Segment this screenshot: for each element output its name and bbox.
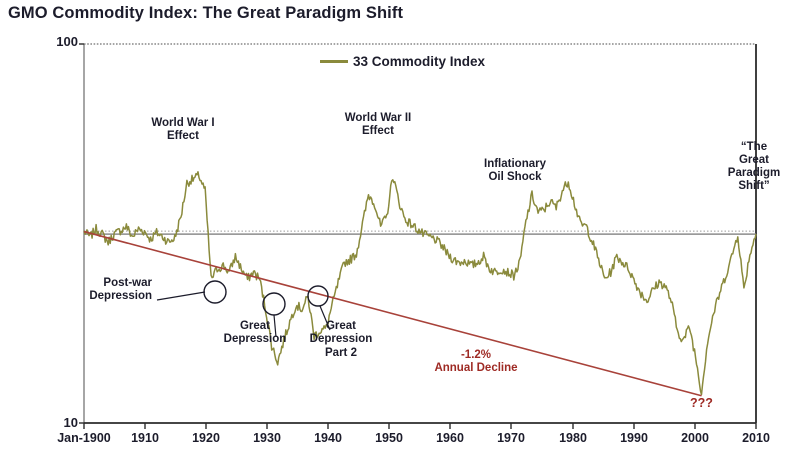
legend-swatch-icon [320,60,348,63]
x-axis-label-1980: 1980 [543,431,603,445]
chart-container: GMO Commodity Index: The Great Paradigm … [0,0,800,466]
commodity-index-series [84,172,756,395]
x-axis-label-1930: 1930 [237,431,297,445]
x-axis-label-2000: 2000 [665,431,725,445]
chart-canvas [0,0,800,466]
y-axis-label-10: 10 [40,415,78,430]
trend-line [84,232,702,396]
annotation-world-war-2: World War II Effect [333,112,423,139]
x-axis-label-1990: 1990 [604,431,664,445]
annotation-world-war-1: World War I Effect [139,117,227,144]
annotation-great-paradigm-shift: “The Great Paradigm Shift” [716,141,792,193]
annotation-question-marks: ??? [690,396,730,411]
x-axis-label-1970: 1970 [481,431,541,445]
circle-postwar [204,281,226,303]
x-axis-label-1960: 1960 [420,431,480,445]
x-axis-label-1920: 1920 [176,431,236,445]
annotation-great-depression: Great Depression [212,320,298,347]
legend-label: 33 Commodity Index [353,54,485,69]
annotation-postwar-depression: Post-war Depression [40,277,152,304]
chart-legend: 33 Commodity Index [320,54,485,69]
y-axis-label-100: 100 [40,34,78,49]
annotation-great-depression-part-2: Great Depression Part 2 [298,320,384,360]
annotation-annual-decline: -1.2% Annual Decline [424,349,528,376]
x-axis-label-1900: Jan-1900 [44,431,124,445]
x-axis-label-1940: 1940 [298,431,358,445]
leader-postwar [157,292,205,300]
x-axis-label-1950: 1950 [359,431,419,445]
circle-great-depression [263,293,285,315]
annotation-oil-shock: Inflationary Oil Shock [468,158,562,185]
x-axis-label-1910: 1910 [115,431,175,445]
x-axis-label-2010: 2010 [726,431,786,445]
